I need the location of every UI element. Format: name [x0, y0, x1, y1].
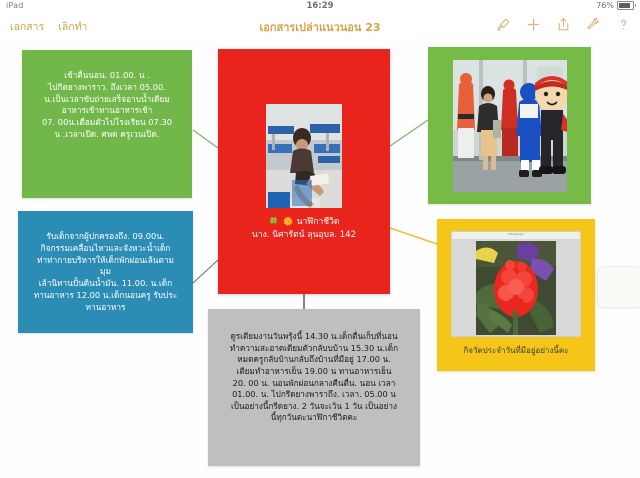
connector-center-to-yellow [390, 228, 437, 244]
node-blue-text-body: รับเด็กจากผู้ปกครองถึง. 09.00น. กิจกรรมเ… [18, 211, 193, 327]
node-gray-evening-routine[interactable]: ดูรเตียมงานวันพรุ้งนี้ 14.30 น.เด็กตื่นเ… [208, 309, 420, 466]
side-panel-handle[interactable] [597, 266, 640, 308]
yellow-node-caption: กิจวัตประจำวันที่มีอยู่อย่างนี้คะ [437, 344, 595, 357]
connector-center-to-green-text [193, 130, 218, 148]
yellow-node-window: Preview.app [451, 231, 581, 337]
clover-flower-emoji: 🍀 🌼 [268, 217, 293, 226]
preview-window-title: Preview.app [452, 233, 580, 236]
center-photo [266, 104, 342, 208]
node-green-photo[interactable] [428, 47, 591, 204]
status-bar: iPad 16:29 76% [0, 0, 640, 14]
documents-button[interactable]: เอกสาร [10, 18, 44, 35]
help-icon[interactable] [615, 16, 632, 33]
center-title-text: นาฬิกาชีวิต [297, 217, 340, 227]
share-icon[interactable] [555, 16, 572, 33]
center-title-row: 🍀 🌼 นาฬิกาชีวิต [218, 216, 390, 229]
wrench-icon[interactable] [585, 16, 602, 33]
connector-center-to-green-photo [390, 120, 428, 146]
yellow-node-photo [476, 241, 556, 335]
undo-button[interactable]: เลิกทำ [58, 18, 87, 35]
node-gray-text-body: ดูรเตียมงานวันพรุ้งนี้ 14.30 น.เด็กตื่นเ… [208, 309, 420, 438]
node-green-morning-routine[interactable]: เช้าตื่นนอน. 01.00. น . ไปกีดยางพาราว. ถ… [22, 50, 192, 198]
ipad-app-window: iPad 16:29 76% เอกสาร เลิกทำ เอกสารเปล่า… [0, 0, 640, 478]
battery-percent-label: 76% [596, 1, 614, 10]
toolbar-left-group: เอกสาร เลิกทำ [10, 18, 87, 35]
app-toolbar: เอกสาร เลิกทำ เอกสารเปล่าแนวนอน 23 [0, 14, 640, 39]
node-yellow-photo[interactable]: Preview.app [437, 219, 595, 371]
node-center-title[interactable]: 🍀 🌼 นาฬิกาชีวิต นาง. นิศารัตน์ ลุนอุบล. … [218, 49, 390, 294]
node-green-text-body: เช้าตื่นนอน. 01.00. น . ไปกีดยางพาราว. ถ… [22, 50, 192, 155]
battery-icon [617, 1, 634, 10]
green-node-photo [453, 60, 567, 192]
preview-window-titlebar: Preview.app [452, 232, 580, 240]
center-caption: 🍀 🌼 นาฬิกาชีวิต นาง. นิศารัตน์ ลุนอุบล. … [218, 216, 390, 242]
center-subtitle-text: นาง. นิศารัตน์ ลุนอุบล. 142 [218, 229, 390, 242]
brush-icon[interactable] [495, 16, 512, 33]
connector-center-to-blue-text [193, 260, 218, 283]
plus-icon[interactable] [525, 16, 542, 33]
toolbar-right-group [495, 16, 632, 33]
status-clock: 16:29 [0, 1, 640, 11]
status-battery-group: 76% [596, 1, 634, 10]
mindmap-canvas[interactable]: เช้าตื่นนอน. 01.00. น . ไปกีดยางพาราว. ถ… [0, 38, 640, 478]
node-blue-daycare-activities[interactable]: รับเด็กจากผู้ปกครองถึง. 09.00น. กิจกรรมเ… [18, 211, 193, 333]
